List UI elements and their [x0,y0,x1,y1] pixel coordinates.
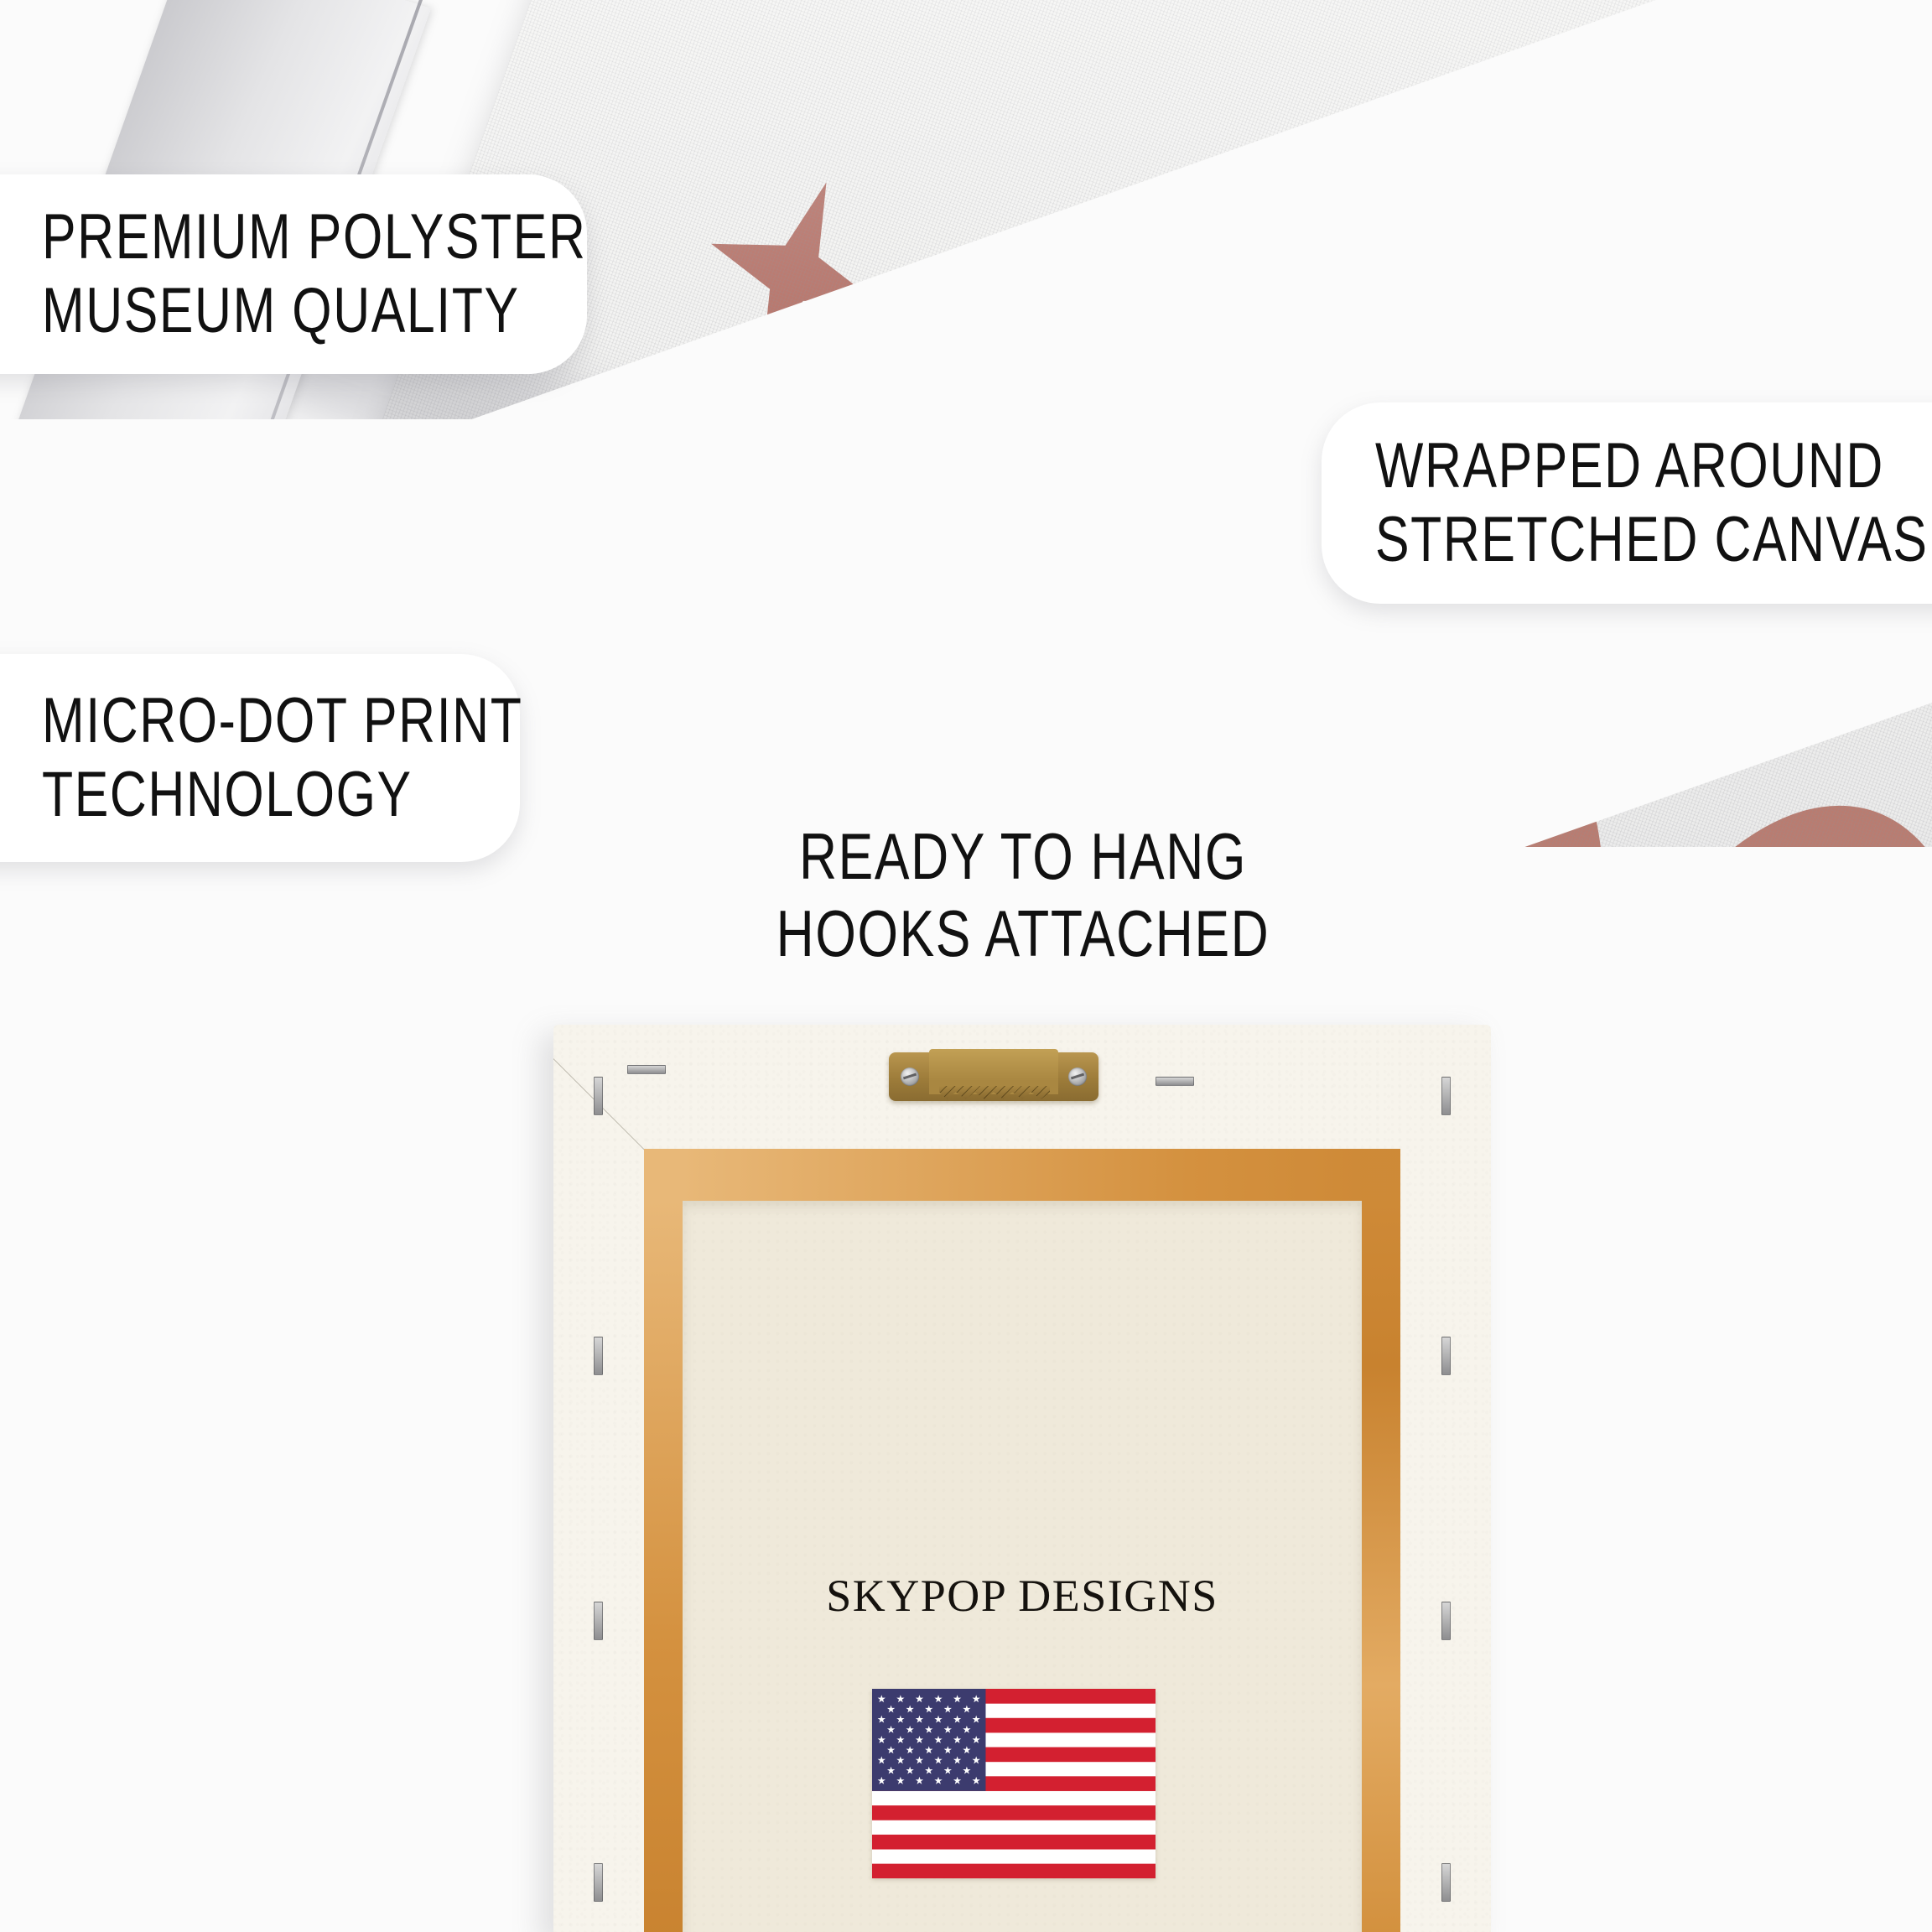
heading-ready-to-hang: READY TO HANG HOOKS ATTACHED [587,818,1459,972]
hanger-screw [901,1067,919,1086]
canvas-back-surface: SKYPOP DESIGNS [553,1025,1491,1932]
product-infographic: PREMIUM POLYSTER MUSEUM QUALITY WRAPPED … [0,0,1932,1932]
feature-line: MUSEUM QUALITY [42,274,478,348]
brand-label: SKYPOP DESIGNS [553,1570,1491,1622]
feature-pill-premium-polyster[interactable]: PREMIUM POLYSTER MUSEUM QUALITY [0,174,587,374]
staple [594,1337,603,1375]
us-flag [872,1689,1156,1878]
feature-pill-micro-dot-print[interactable]: MICRO-DOT PRINT TECHNOLOGY [0,654,520,862]
feature-line: WRAPPED AROUND [1375,429,1909,503]
staple [1441,1863,1451,1902]
feature-line: STRETCHED CANVAS [1375,503,1909,577]
canvas-back-photo: SKYPOP DESIGNS [553,1025,1491,1932]
staple [1441,1077,1451,1115]
feature-line: MICRO-DOT PRINT [42,684,424,758]
feature-pill-wrapped-around[interactable]: WRAPPED AROUND STRETCHED CANVAS [1322,402,1932,604]
staple [627,1065,666,1074]
feature-line: PREMIUM POLYSTER [42,200,478,274]
feature-line: TECHNOLOGY [42,758,424,832]
sawtooth-hanger [889,1052,1098,1101]
staple [1156,1077,1194,1086]
staple [594,1077,603,1115]
staple [1441,1337,1451,1375]
heading-line: HOOKS ATTACHED [674,895,1372,972]
staple [594,1863,603,1902]
heading-line: READY TO HANG [674,818,1372,895]
hanger-screw [1068,1067,1087,1086]
